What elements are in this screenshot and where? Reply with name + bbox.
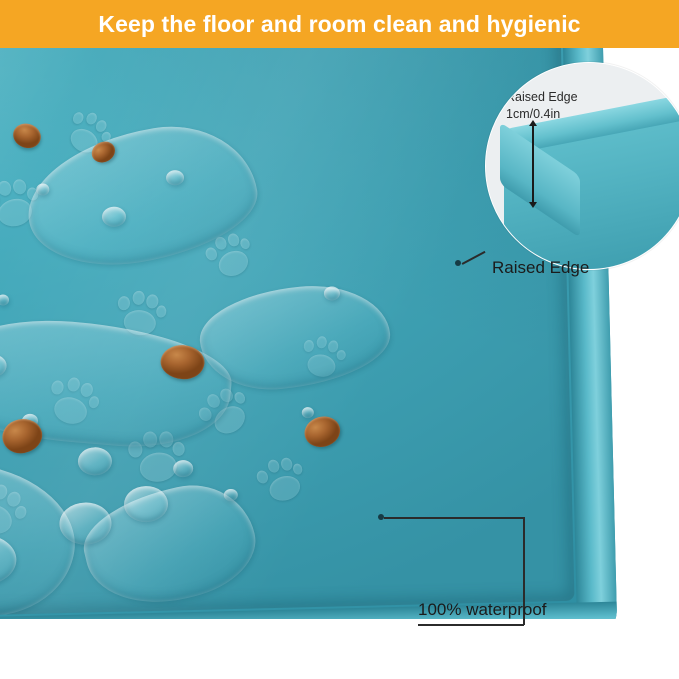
water-droplet	[0, 294, 9, 305]
callout-leader-line-waterproof-h	[384, 517, 524, 519]
water-droplet	[173, 460, 193, 477]
kibble-piece	[301, 413, 344, 451]
raised-edge-inset: Raised Edge 1cm/0.4in	[485, 62, 679, 270]
headline-text: Keep the floor and room clean and hygien…	[98, 11, 580, 38]
water-puddle	[196, 279, 395, 396]
callout-underline-waterproof	[418, 624, 524, 626]
paw-print	[252, 452, 313, 514]
headline-banner: Keep the floor and room clean and hygien…	[0, 0, 679, 48]
product-image: Keep the floor and room clean and hygien…	[0, 0, 679, 679]
water-droplet	[224, 489, 238, 501]
inset-dimension-label: Raised Edge 1cm/0.4in	[506, 89, 578, 123]
background-bottom	[0, 619, 679, 679]
water-droplet	[302, 407, 314, 418]
dimension-arrow-icon	[532, 125, 534, 203]
water-droplet	[78, 447, 113, 476]
product-photo: Raised Edge 1cm/0.4in Raised Edge 100% w…	[0, 48, 679, 679]
callout-anchor-dot-raised-edge	[455, 260, 461, 266]
callout-label-raised-edge: Raised Edge	[492, 258, 589, 278]
kibble-piece	[10, 120, 44, 152]
callout-label-waterproof: 100% waterproof	[418, 600, 547, 620]
